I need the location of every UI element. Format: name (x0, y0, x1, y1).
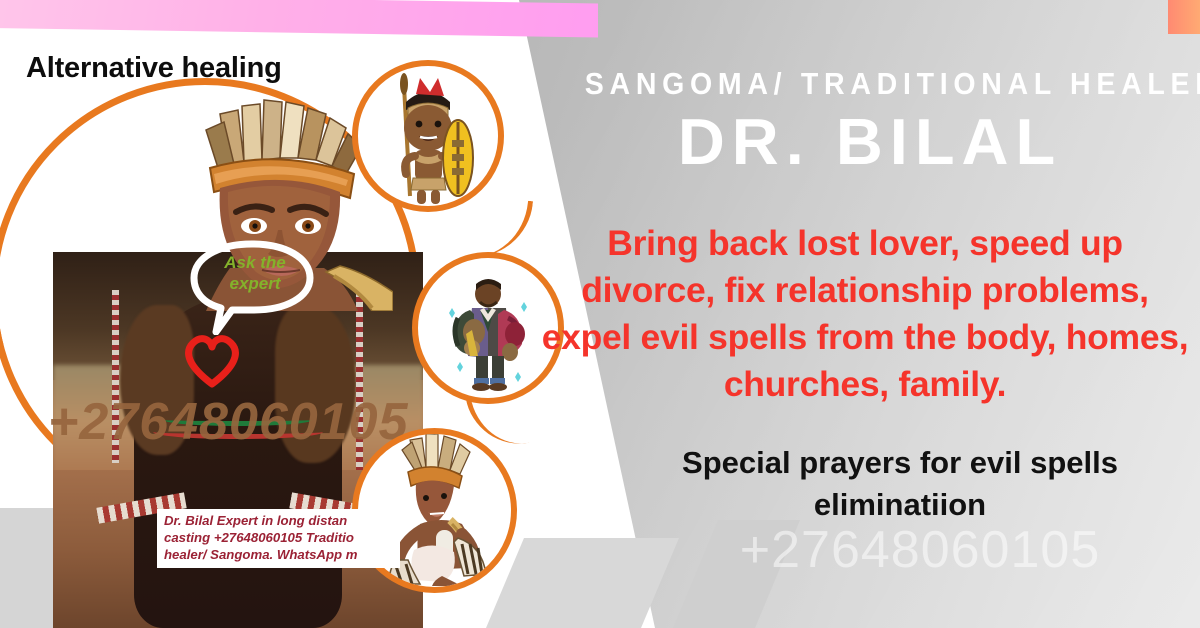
bubble-zulu-warrior-cartoon (352, 60, 504, 212)
kicker-headline: SANGOMA/ TRADITIONAL HEALER (585, 66, 1155, 102)
speech-bubble-text: Ask the expert (205, 252, 305, 295)
services-description: Bring back lost lover, speed up divorce,… (540, 220, 1190, 407)
poster-canvas: Alternative healing (0, 0, 1200, 628)
photo-phone-watermark: +27648060105 (48, 392, 409, 452)
caption-line-1: Dr. Bilal Expert in long distan (164, 513, 394, 530)
phone-number-watermark: +27648060105 (640, 520, 1200, 580)
top-pink-bar (0, 0, 598, 38)
photo-caption: Dr. Bilal Expert in long distan casting … (157, 509, 400, 568)
doctor-name-headline: DR. BILAL (560, 108, 1180, 176)
heart-icon (180, 330, 244, 388)
page-title: Alternative healing (26, 52, 282, 85)
caption-line-2: casting +27648060105 Traditio (164, 530, 394, 547)
caption-line-3: healer/ Sangoma. WhatsApp m (164, 547, 394, 564)
special-prayers-text: Special prayers for evil spells eliminat… (600, 442, 1200, 526)
top-orange-bar (1168, 0, 1200, 34)
